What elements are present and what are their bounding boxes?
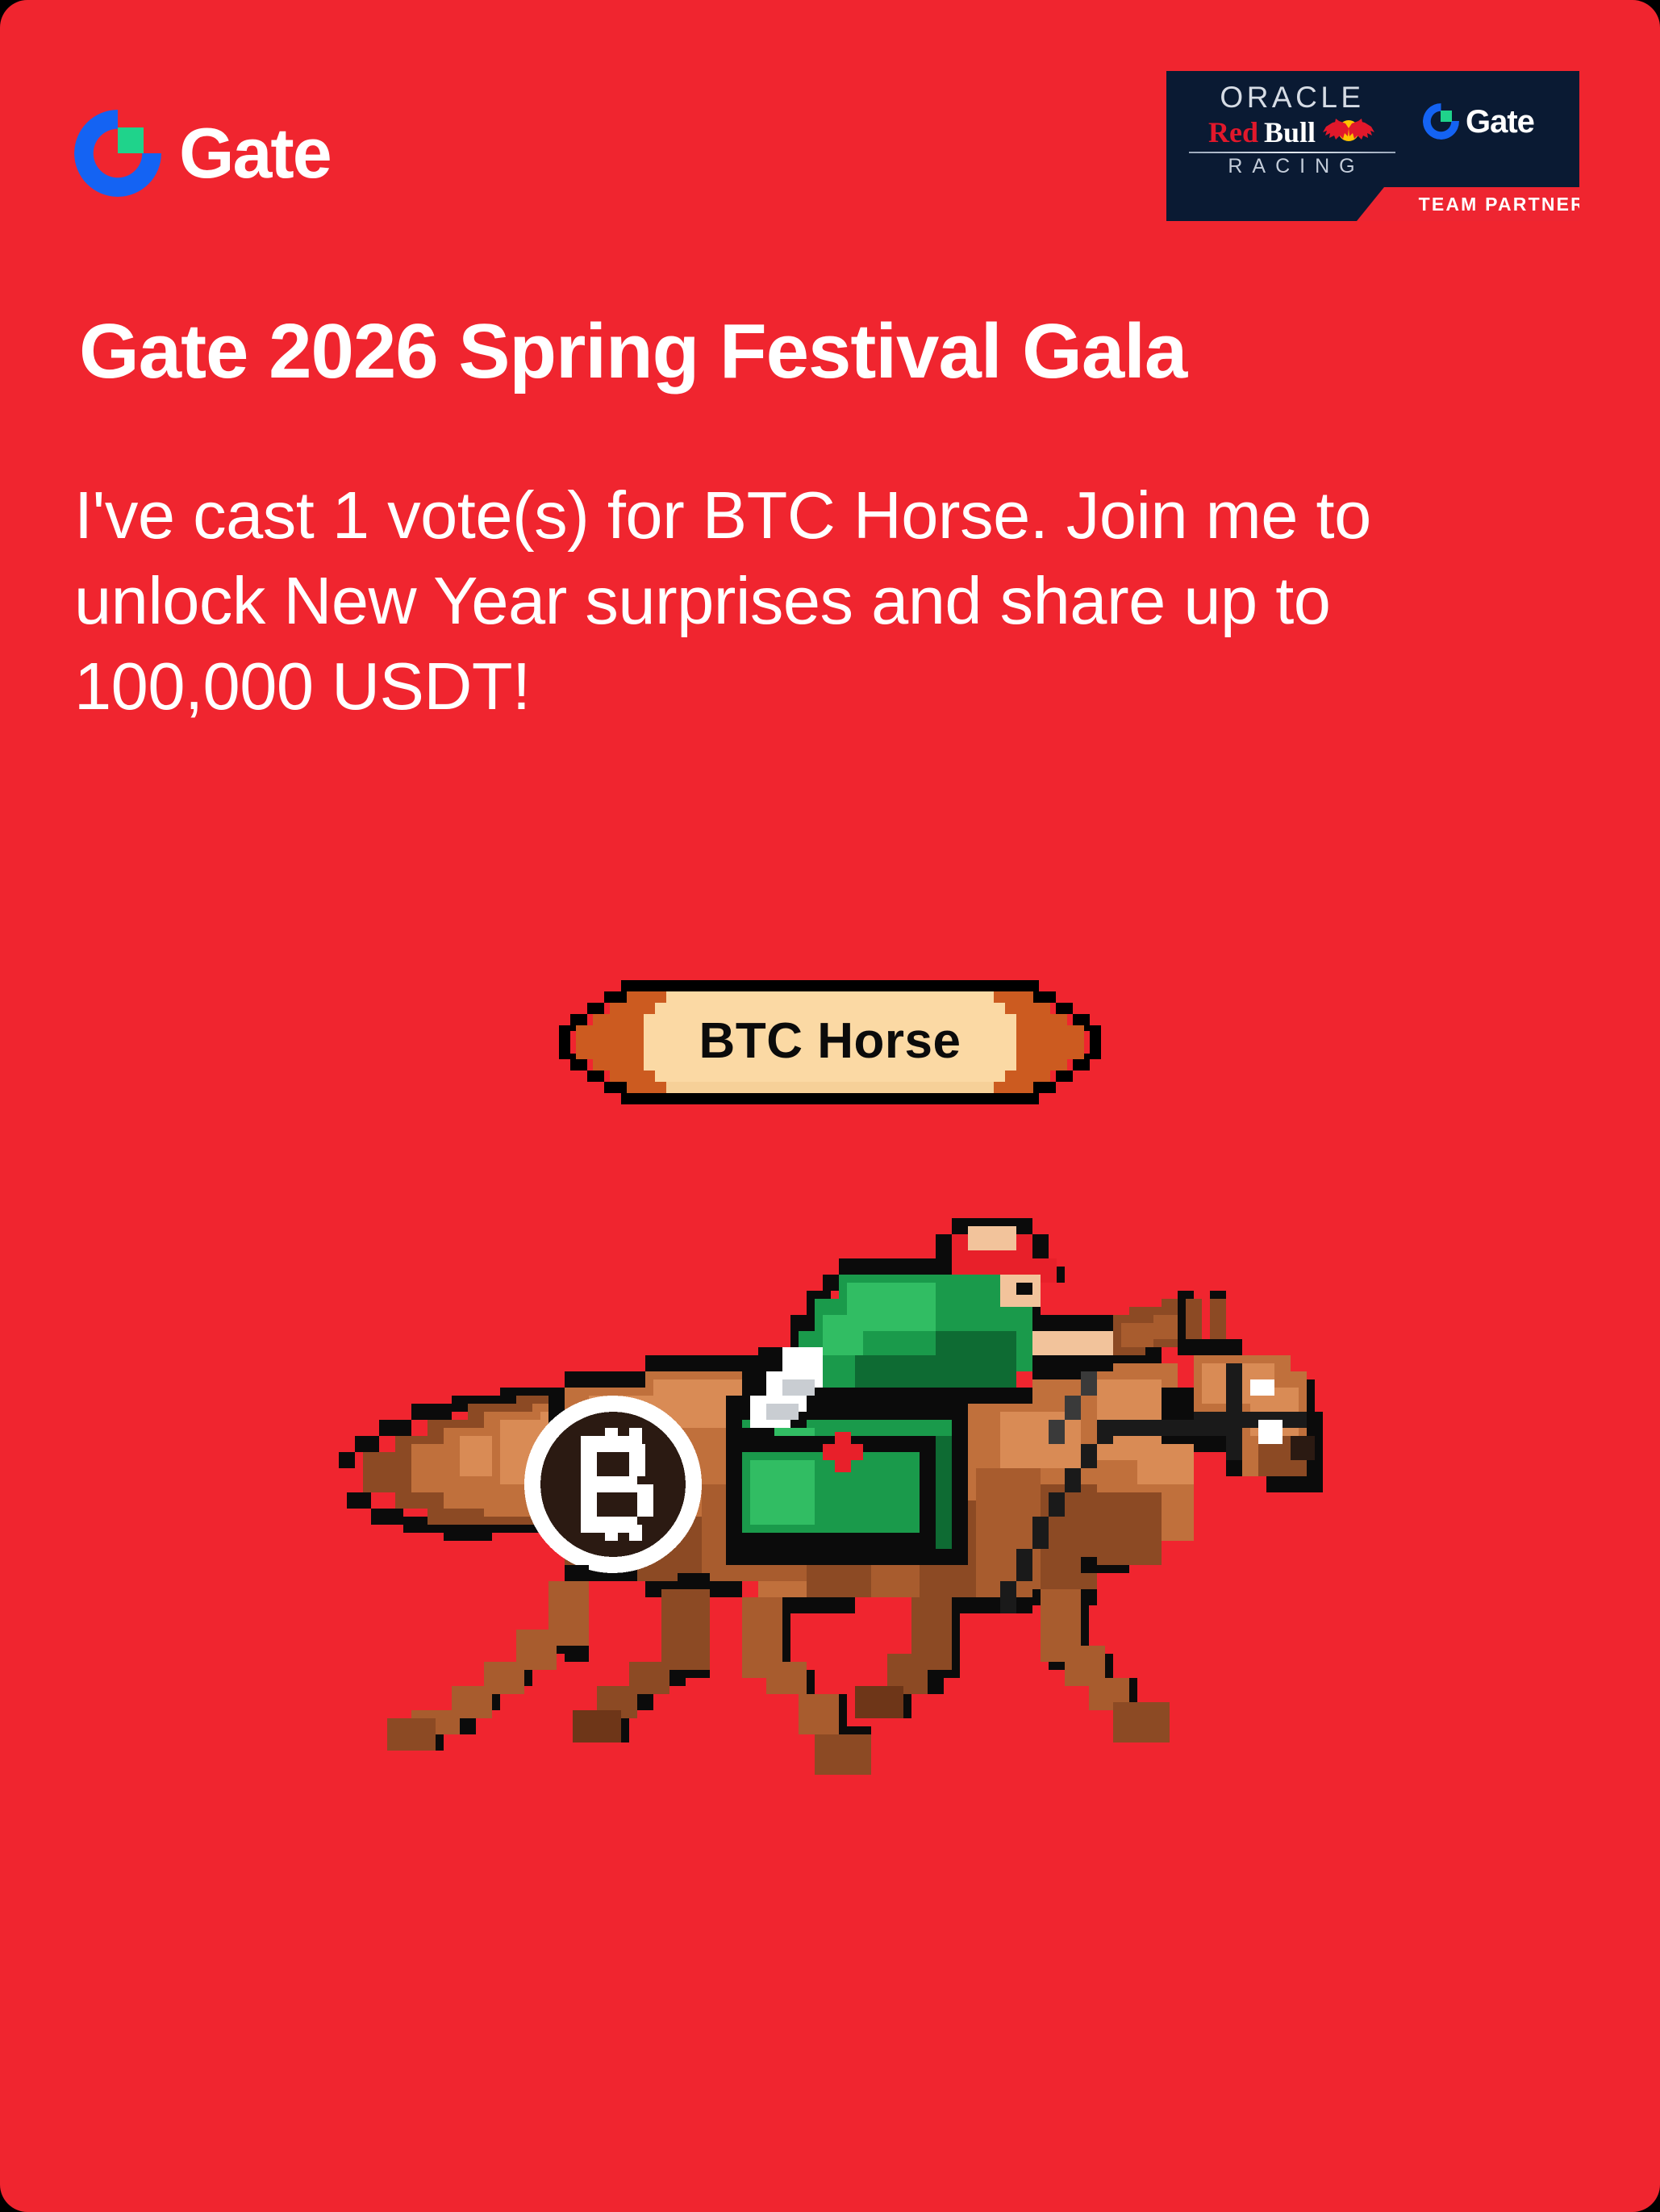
- racing-wordmark: RACING: [1189, 157, 1395, 177]
- pixel-horse-illustration: [323, 1194, 1339, 1807]
- share-card: Gate ORACLE Red Bull RACIN: [0, 0, 1660, 2212]
- gate-brand-logo: Gate: [74, 110, 331, 197]
- badge-gate-logo: Gate: [1423, 103, 1534, 140]
- badge-divider: [1189, 152, 1395, 153]
- page-title: Gate 2026 Spring Festival Gala: [79, 308, 1499, 395]
- horse-nameplate-label: BTC Horse: [542, 974, 1118, 1111]
- badge-gate-wordmark: Gate: [1466, 106, 1534, 138]
- jockey-on-racehorse-icon: [323, 1194, 1339, 1807]
- team-partner-banner: TEAM PARTNER: [1357, 187, 1579, 221]
- card-header: Gate ORACLE Red Bull RACIN: [0, 0, 1660, 242]
- gate-logo-icon: [74, 110, 161, 197]
- team-partner-label: TEAM PARTNER: [1419, 195, 1579, 214]
- gate-logo-icon-small: [1423, 103, 1459, 140]
- share-message: I've cast 1 vote(s) for BTC Horse. Join …: [74, 473, 1558, 730]
- oracle-red-bull-racing-partner-badge: ORACLE Red Bull RACING: [1166, 71, 1579, 221]
- bull-word: Bull: [1264, 118, 1316, 147]
- horse-nameplate: BTC Horse: [542, 974, 1118, 1111]
- gate-wordmark: Gate: [179, 118, 331, 189]
- red-word: Red: [1208, 118, 1258, 147]
- red-bull-wordmark-row: Red Bull: [1189, 118, 1395, 147]
- red-bull-charging-bulls-icon: [1321, 119, 1376, 146]
- red-bull-racing-lockup: ORACLE Red Bull RACING: [1189, 82, 1395, 189]
- oracle-wordmark: ORACLE: [1189, 82, 1395, 112]
- bitcoin-icon: [524, 1396, 702, 1573]
